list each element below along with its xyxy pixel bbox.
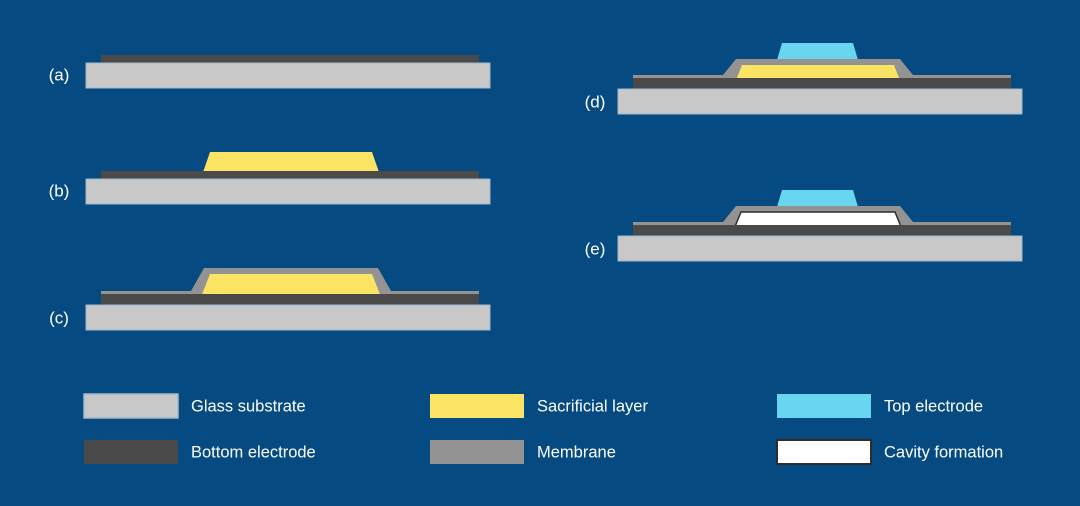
panel-e-glass-substrate bbox=[618, 236, 1022, 261]
legend-item-membrane: Membrane bbox=[430, 440, 616, 464]
panel-b-label: (b) bbox=[49, 181, 70, 200]
panel-a: (a) bbox=[49, 55, 490, 88]
legend-swatch-membrane bbox=[430, 440, 524, 464]
legend-item-cavity-formation: Cavity formation bbox=[777, 440, 1003, 464]
legend-label-sacrificial-layer: Sacrificial layer bbox=[537, 397, 648, 415]
panel-d-glass-substrate bbox=[618, 89, 1022, 114]
legend-swatch-sacrificial-layer bbox=[430, 394, 524, 418]
panel-a-glass-substrate bbox=[86, 63, 490, 88]
panel-d-top-electrode bbox=[777, 43, 858, 60]
legend-swatch-cavity-formation bbox=[777, 440, 871, 464]
legend-label-bottom-electrode: Bottom electrode bbox=[191, 443, 316, 461]
panel-e-top-electrode bbox=[777, 190, 858, 207]
process-flow-diagram: (a) (b) (c) (d) (e) bbox=[0, 0, 1080, 506]
legend-swatch-top-electrode bbox=[777, 394, 871, 418]
panel-e-bottom-electrode bbox=[633, 225, 1011, 236]
legend-item-sacrificial-layer: Sacrificial layer bbox=[430, 394, 648, 418]
panel-d-label: (d) bbox=[585, 92, 606, 111]
legend-swatch-bottom-electrode bbox=[84, 440, 178, 464]
legend-item-bottom-electrode: Bottom electrode bbox=[84, 440, 316, 464]
panel-c-bottom-electrode bbox=[101, 294, 479, 305]
panel-b-glass-substrate bbox=[86, 179, 490, 204]
panel-c-glass-substrate bbox=[86, 305, 490, 330]
panel-c-sacrificial-layer bbox=[201, 274, 381, 297]
legend-swatch-glass-substrate bbox=[84, 394, 178, 418]
panel-c-label: (c) bbox=[49, 308, 69, 327]
panel-d-bottom-electrode bbox=[633, 78, 1011, 89]
legend-label-glass-substrate: Glass substrate bbox=[191, 397, 306, 415]
legend-label-top-electrode: Top electrode bbox=[884, 397, 983, 415]
panel-a-label: (a) bbox=[49, 65, 70, 84]
legend-label-cavity-formation: Cavity formation bbox=[884, 443, 1003, 461]
panel-e-label: (e) bbox=[585, 239, 606, 258]
legend-item-glass-substrate: Glass substrate bbox=[84, 394, 306, 418]
legend-label-membrane: Membrane bbox=[537, 443, 616, 461]
